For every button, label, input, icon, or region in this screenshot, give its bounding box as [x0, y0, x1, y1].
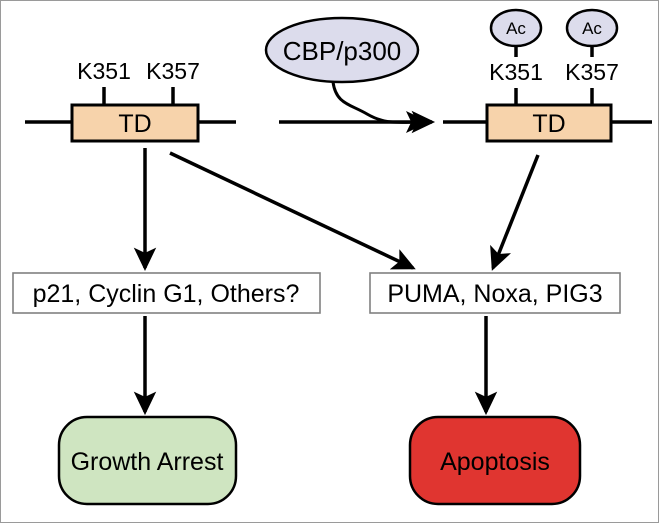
- outcome-growth-arrest: Growth Arrest: [59, 417, 236, 504]
- diagram-canvas: K351 K357 TD CBP/p300 K351 K357: [0, 0, 660, 524]
- residue-label-k357-left: K357: [146, 58, 200, 84]
- arrow-unmodified-to-apoptosis-targets: [170, 153, 413, 268]
- enzyme-label: CBP/p300: [283, 36, 402, 66]
- outcome-apoptosis: Apoptosis: [410, 417, 580, 504]
- apoptosis-label: Apoptosis: [440, 448, 550, 476]
- acetyl-label-k351: Ac: [506, 19, 526, 38]
- acetyl-label-k357: Ac: [582, 19, 602, 38]
- residue-label-k351-left: K351: [77, 58, 131, 84]
- target-gene-box-apoptosis: PUMA, Noxa, PIG3: [370, 273, 620, 313]
- enzyme-group: CBP/p300: [266, 18, 432, 122]
- residue-label-k351-right: K351: [489, 59, 543, 85]
- unmodified-protein-group: K351 K357 TD: [25, 58, 236, 141]
- pathway-diagram: K351 K357 TD CBP/p300 K351 K357: [0, 0, 660, 524]
- growth-arrest-label: Growth Arrest: [71, 448, 224, 476]
- arrow-acetylated-to-apoptosis-targets: [493, 155, 538, 268]
- acetylated-protein-group: K351 K357 Ac Ac TD: [443, 10, 652, 141]
- catalysis-curved-arrow: [333, 82, 424, 122]
- domain-box-label-unmodified: TD: [118, 110, 151, 138]
- target-gene-box-arrest: p21, Cyclin G1, Others?: [13, 273, 320, 313]
- domain-box-label-acetylated: TD: [532, 110, 565, 138]
- residue-label-k357-right: K357: [565, 59, 619, 85]
- apoptosis-targets-label: PUMA, Noxa, PIG3: [387, 280, 602, 308]
- arrest-targets-label: p21, Cyclin G1, Others?: [33, 280, 300, 308]
